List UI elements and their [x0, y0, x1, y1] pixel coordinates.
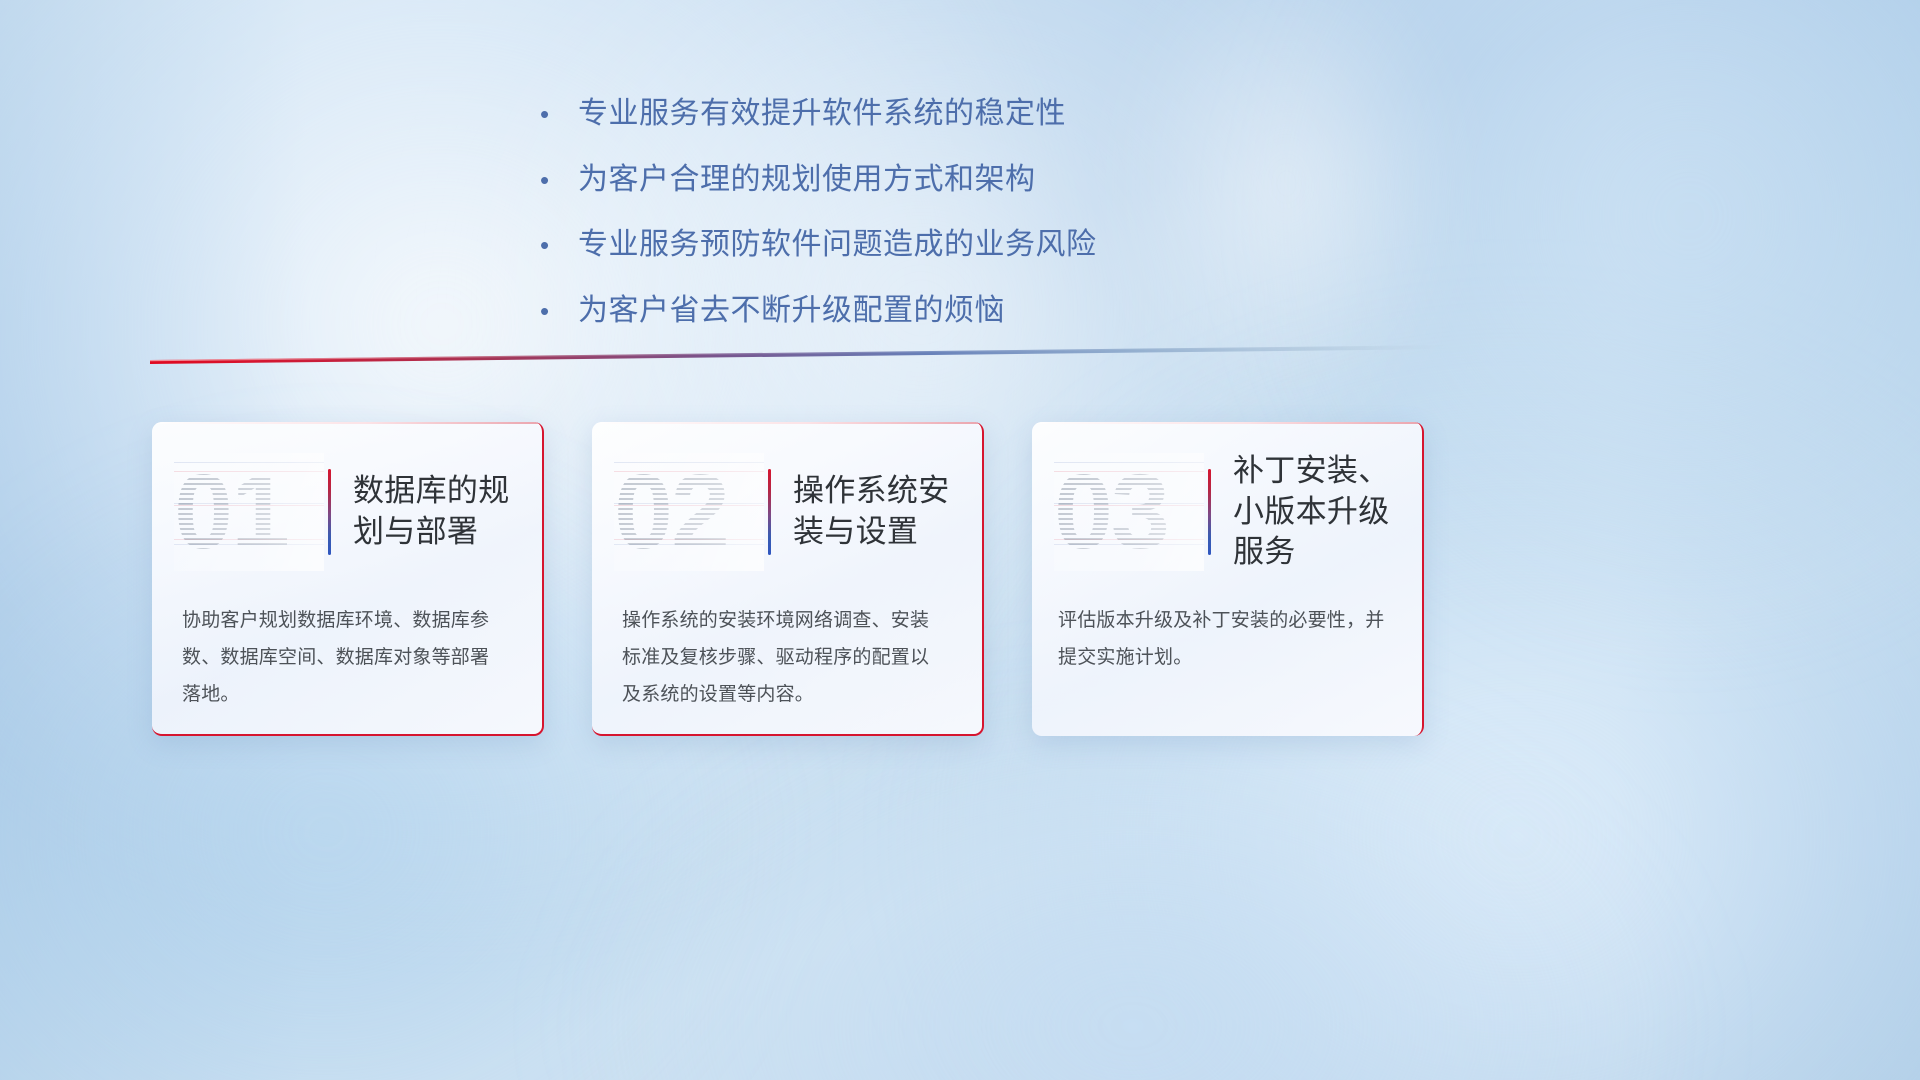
card-header: 03 补丁安装、小版本升级服务 [1032, 422, 1422, 602]
divider-shape [150, 343, 1450, 365]
benefits-bullet-list: • 专业服务有效提升软件系统的稳定性 • 为客户合理的规划使用方式和架构 • 专… [540, 95, 1300, 357]
card-number-text: 03 [1054, 453, 1168, 571]
service-card[interactable]: 03 补丁安装、小版本升级服务 评估版本升级及补丁安装的必要性，并提交实施计划。 [1032, 422, 1424, 736]
bullet-text: 为客户省去不断升级配置的烦恼 [578, 292, 1005, 330]
card-accent-bar [328, 469, 331, 555]
bullet-text: 专业服务有效提升软件系统的稳定性 [578, 95, 1066, 133]
card-number-watermark: 01 [174, 453, 324, 571]
card-description: 评估版本升级及补丁安装的必要性，并提交实施计划。 [1032, 602, 1422, 676]
bullet-text: 专业服务预防软件问题造成的业务风险 [578, 226, 1097, 264]
bullet-text: 为客户合理的规划使用方式和架构 [578, 161, 1036, 199]
list-item: • 为客户省去不断升级配置的烦恼 [540, 292, 1300, 330]
card-accent-bar [1208, 469, 1211, 555]
card-description: 操作系统的安装环境网络调查、安装标准及复核步骤、驱动程序的配置以及系统的设置等内… [592, 602, 982, 713]
bullet-marker-icon: • [540, 232, 578, 258]
bullet-marker-icon: • [540, 167, 578, 193]
card-number-text: 01 [174, 453, 288, 571]
card-header: 01 数据库的规划与部署 [152, 422, 542, 602]
list-item: • 专业服务预防软件问题造成的业务风险 [540, 226, 1300, 264]
card-title: 操作系统安装与设置 [793, 471, 982, 553]
list-item: • 为客户合理的规划使用方式和架构 [540, 161, 1300, 199]
service-card[interactable]: 01 数据库的规划与部署 协助客户规划数据库环境、数据库参数、数据库空间、数据库… [152, 422, 544, 736]
service-card-list: 01 数据库的规划与部署 协助客户规划数据库环境、数据库参数、数据库空间、数据库… [152, 422, 1424, 736]
card-accent-bar [768, 469, 771, 555]
list-item: • 专业服务有效提升软件系统的稳定性 [540, 95, 1300, 133]
section-divider [150, 343, 1450, 365]
card-number-watermark: 02 [614, 453, 764, 571]
card-number-text: 02 [614, 453, 728, 571]
card-title: 数据库的规划与部署 [353, 471, 542, 553]
card-number-watermark: 03 [1054, 453, 1204, 571]
card-title: 补丁安装、小版本升级服务 [1233, 451, 1422, 574]
bullet-marker-icon: • [540, 101, 578, 127]
card-description: 协助客户规划数据库环境、数据库参数、数据库空间、数据库对象等部署落地。 [152, 602, 542, 713]
service-card[interactable]: 02 操作系统安装与设置 操作系统的安装环境网络调查、安装标准及复核步骤、驱动程… [592, 422, 984, 736]
card-header: 02 操作系统安装与设置 [592, 422, 982, 602]
bullet-marker-icon: • [540, 298, 578, 324]
